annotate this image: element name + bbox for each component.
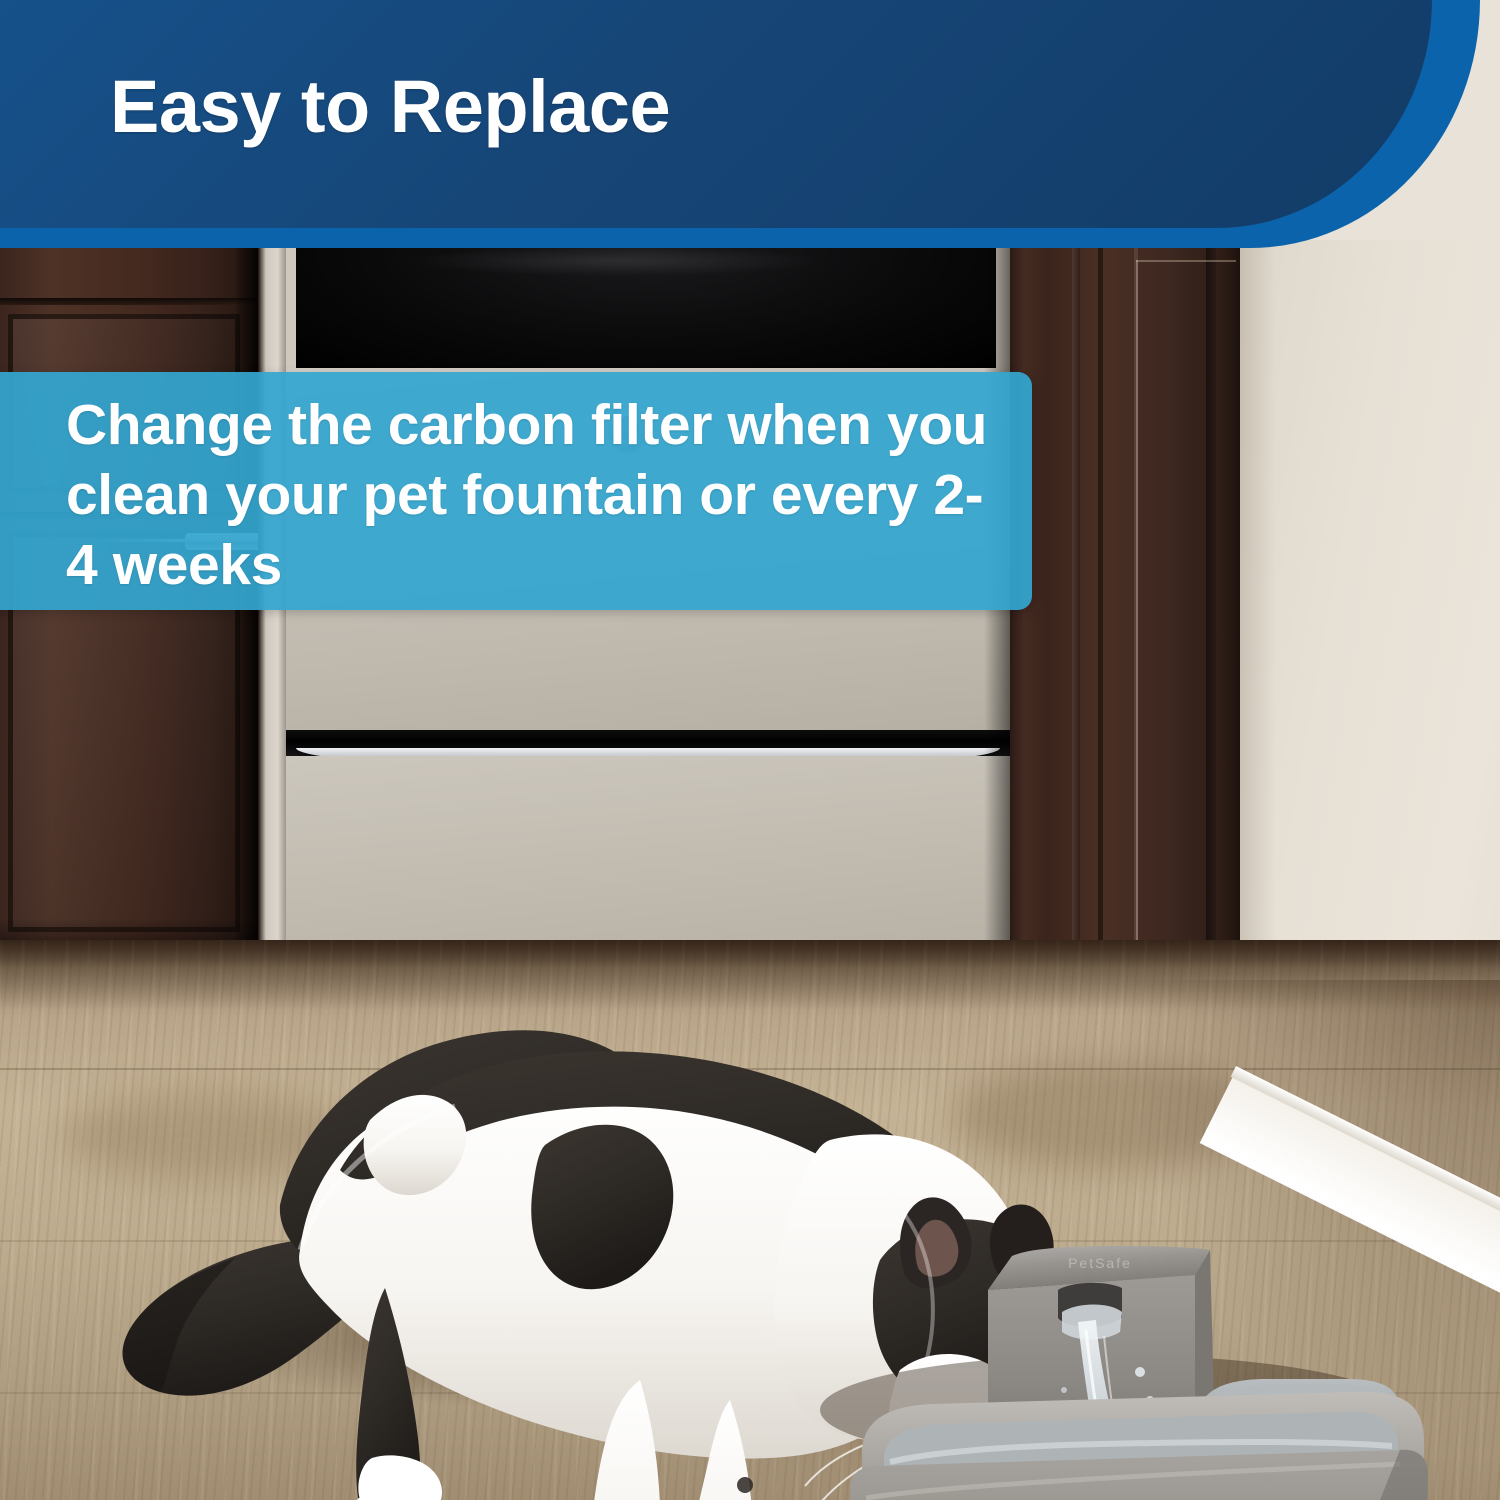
caption-text: Change the carbon filter when you clean … [66, 390, 996, 600]
promotional-graphic: PetSafe [0, 0, 1500, 1500]
header-banner: Easy to Replace [0, 0, 1500, 252]
caption-banner: Change the carbon filter when you clean … [0, 372, 1032, 610]
page-title: Easy to Replace [110, 64, 670, 149]
svg-text:PetSafe: PetSafe [1068, 1255, 1132, 1271]
